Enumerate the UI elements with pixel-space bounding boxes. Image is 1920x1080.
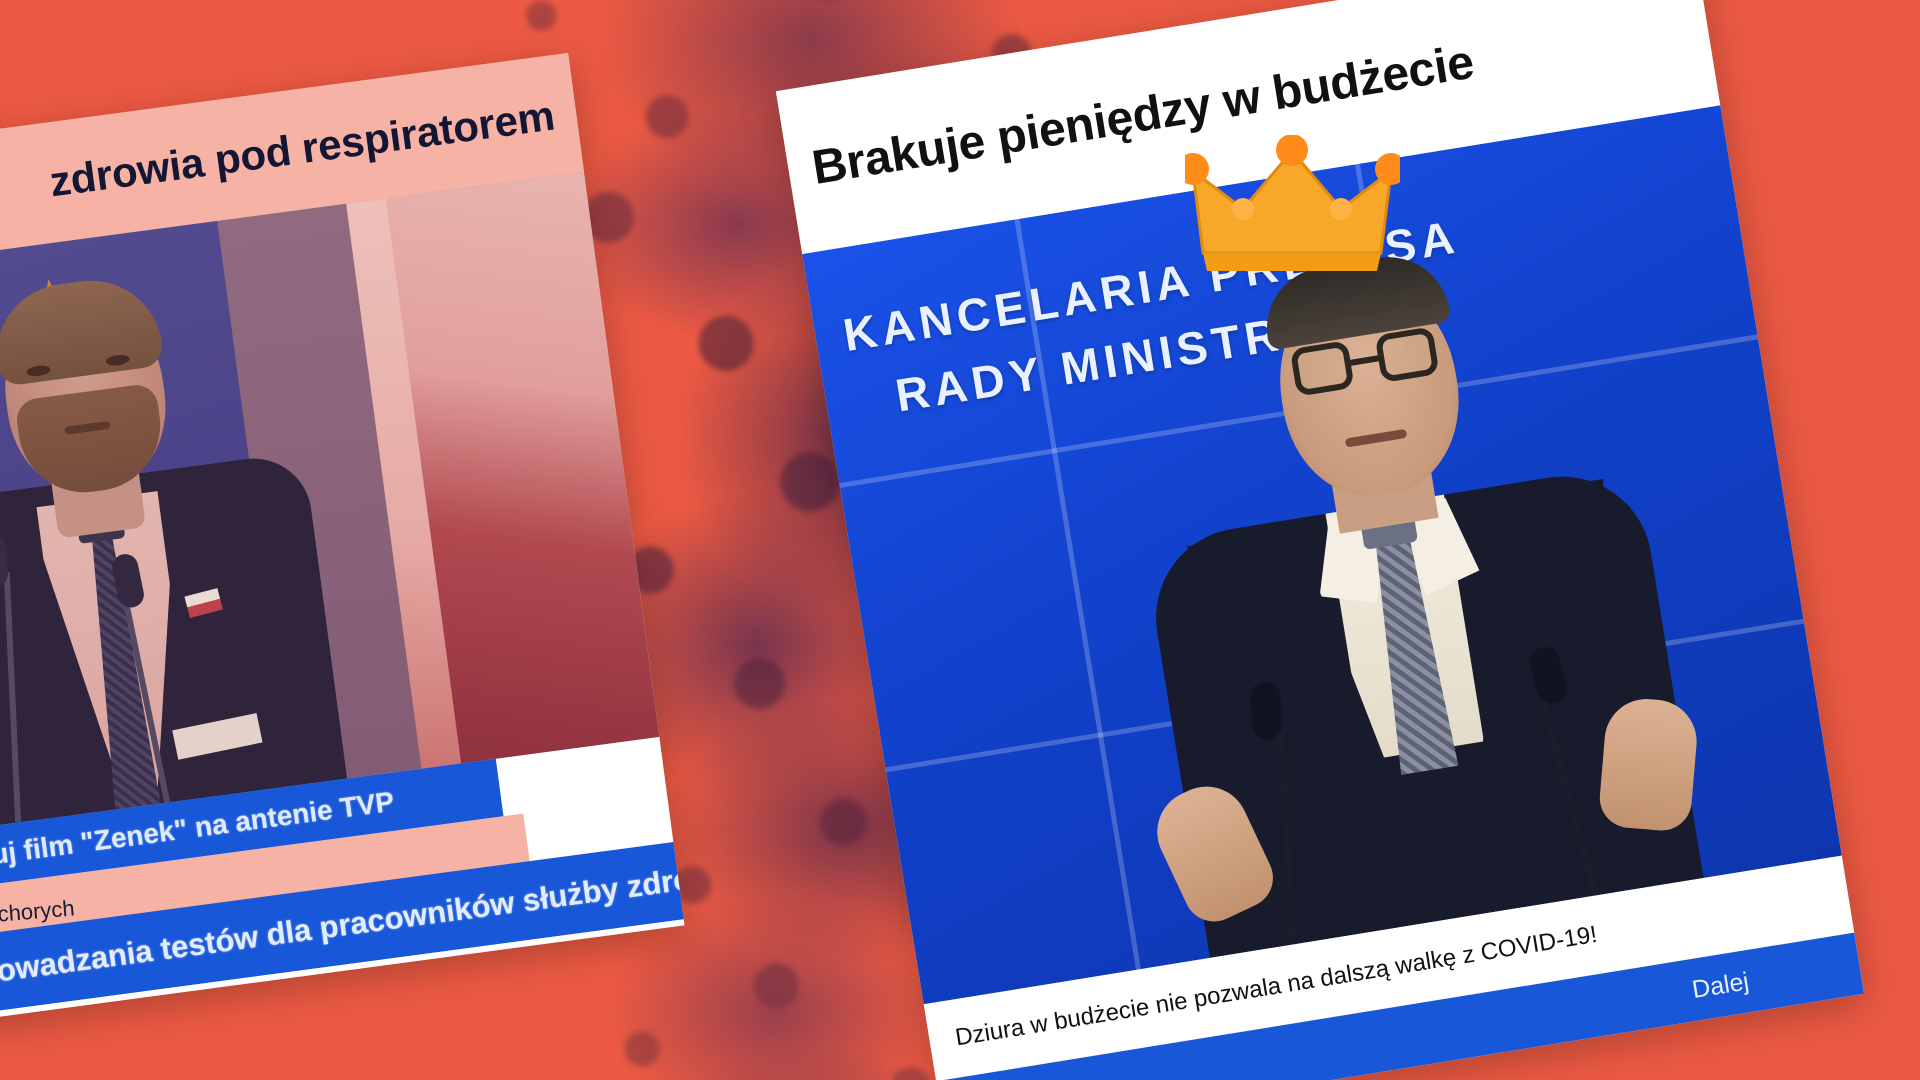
photo-color-tint bbox=[0, 172, 659, 849]
crown-icon bbox=[1185, 135, 1400, 285]
eyeglasses-right-lens bbox=[1375, 326, 1440, 383]
left-news-card[interactable]: zdrowia pod respiratorem bbox=[0, 53, 684, 1037]
left-card-photo bbox=[0, 172, 659, 849]
hand-right bbox=[1597, 696, 1700, 833]
microphone-head-left bbox=[1250, 681, 1283, 741]
next-button-label: Dalej bbox=[1690, 967, 1751, 1005]
eyeglasses-left-lens bbox=[1290, 340, 1355, 397]
premier-figure bbox=[1078, 184, 1723, 961]
